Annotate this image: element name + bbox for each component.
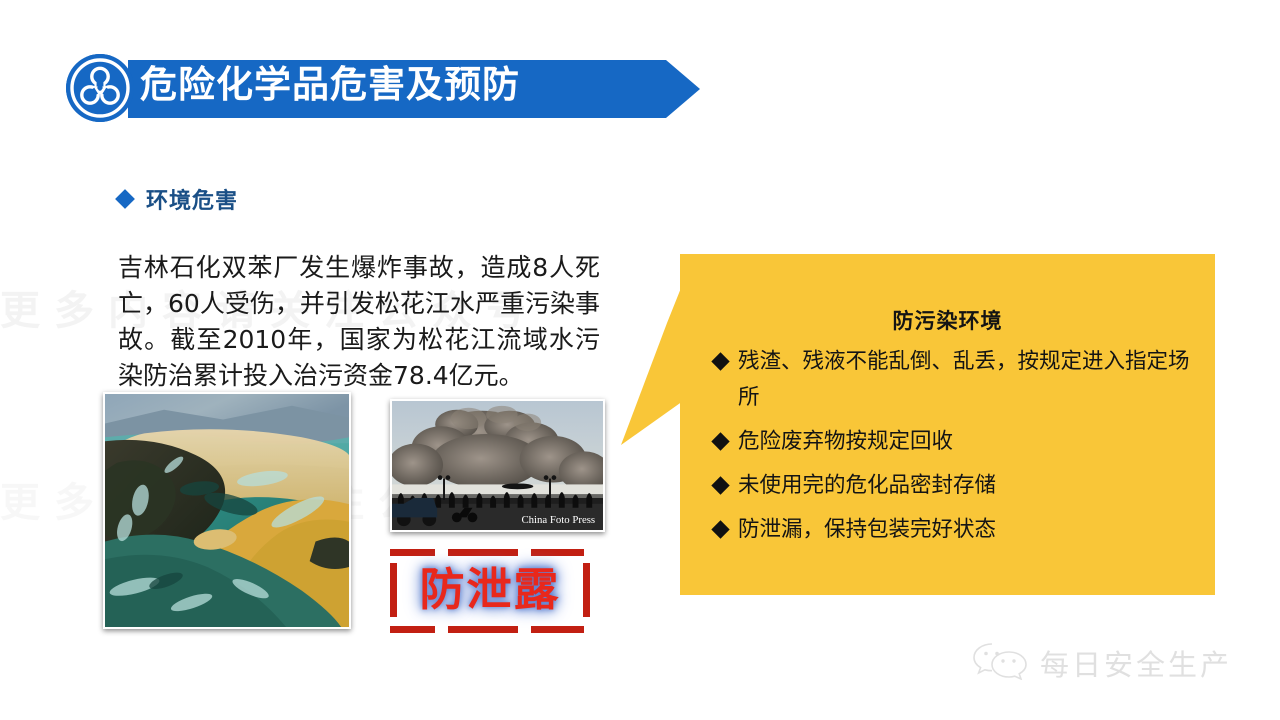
list-item-label: 未使用完的危化品密封存储 (738, 468, 1203, 504)
list-item: 危险废弃物按规定回收 (714, 424, 1203, 460)
callout-title: 防污染环境 (680, 305, 1215, 335)
leak-prevention-stamp: 防泄露 (388, 549, 592, 633)
biohazard-icon (66, 54, 134, 122)
list-item: 残渣、残液不能乱倒、乱丢，按规定进入指定场所 (714, 344, 1203, 416)
diamond-bullet-icon (711, 432, 729, 450)
body-paragraph: 吉林石化双苯厂发生爆炸事故，造成8人死亡，60人受伤，并引发松花江水严重污染事故… (118, 250, 600, 394)
list-item-label: 危险废弃物按规定回收 (738, 424, 1203, 460)
polluted-river-aerial-photo (103, 392, 351, 629)
prevention-callout-box: 防污染环境 残渣、残液不能乱倒、乱丢，按规定进入指定场所 危险废弃物按规定回收 … (680, 254, 1215, 595)
list-item: 未使用完的危化品密封存储 (714, 468, 1203, 504)
diamond-bullet-icon (711, 476, 729, 494)
svg-text:China Foto Press: China Foto Press (521, 514, 595, 526)
callout-tail (621, 283, 683, 445)
explosion-smoke-photo: China Foto Press (390, 399, 605, 532)
list-item-label: 残渣、残液不能乱倒、乱丢，按规定进入指定场所 (738, 344, 1203, 416)
section-heading: 环境危害 (118, 183, 238, 215)
stamp-label: 防泄露 (388, 561, 592, 619)
diamond-bullet-icon (115, 189, 135, 209)
callout-list: 残渣、残液不能乱倒、乱丢，按规定进入指定场所 危险废弃物按规定回收 未使用完的危… (714, 344, 1203, 556)
diamond-bullet-icon (711, 352, 729, 370)
list-item-label: 防泄漏，保持包装完好状态 (738, 512, 1203, 548)
section-heading-label: 环境危害 (146, 183, 238, 215)
wechat-icon (972, 640, 1028, 685)
footer-watermark-label: 每日安全生产 (1040, 642, 1232, 684)
diamond-bullet-icon (711, 520, 729, 538)
list-item: 防泄漏，保持包装完好状态 (714, 512, 1203, 548)
page-title: 危险化学品危害及预防 (140, 62, 520, 108)
footer-watermark: 每日安全生产 (972, 640, 1232, 685)
